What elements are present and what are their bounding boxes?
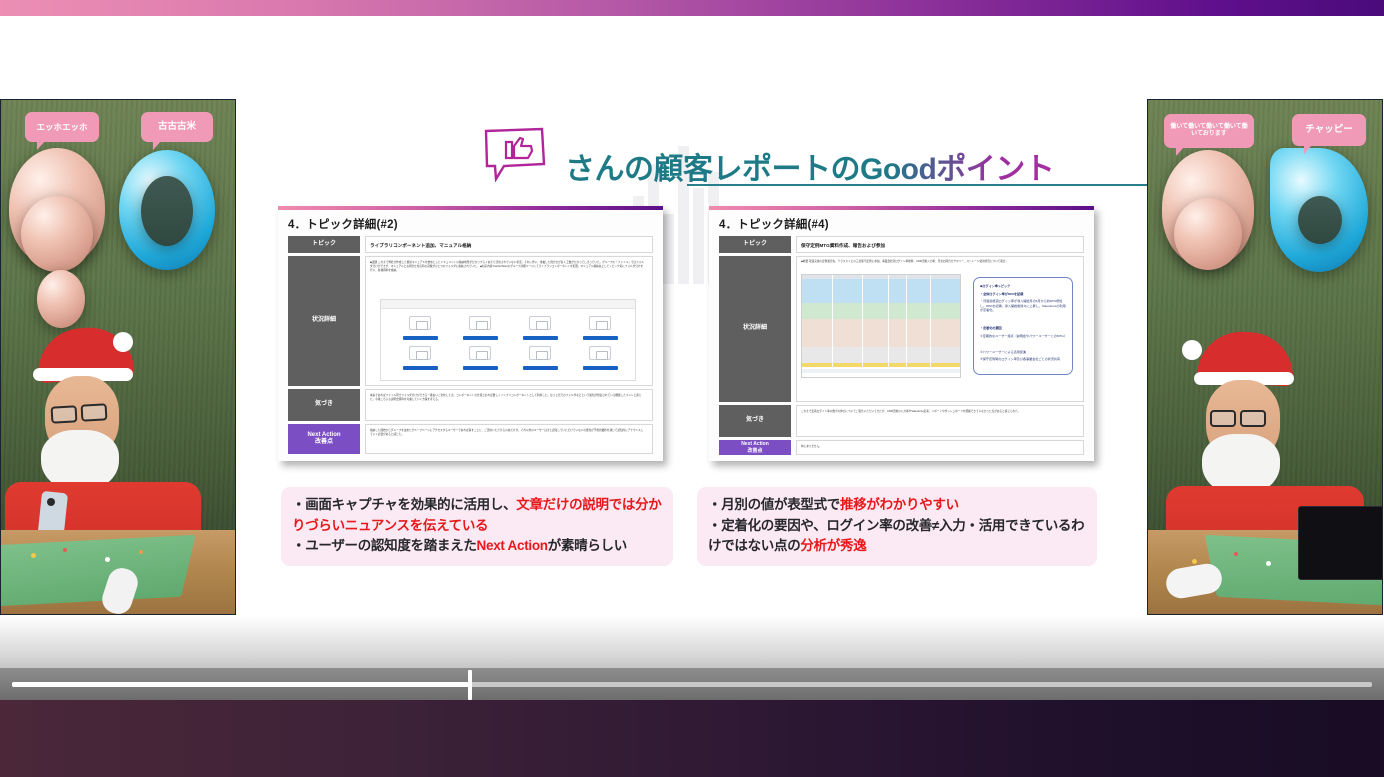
slide-top-ribbon: [0, 0, 1384, 16]
progress-fill: [12, 682, 469, 687]
card-heading: 4．トピック詳細(#4): [719, 216, 829, 232]
screenshot-header: [381, 300, 635, 309]
row-panel: 格納した開始からグループを改めたグループページにアクセスするユーザーであれば探す…: [365, 424, 653, 454]
balloon-digit-5-hole: [1298, 196, 1342, 244]
video-player-app: さんの顧客レポートのGoodポイント 4．トピック詳細(#2) トピック ライブ…: [0, 0, 1384, 777]
row-panel: ライブラリコンポーネント追加、マニュアル格納: [365, 236, 653, 253]
callout-seg: ・ユーザーの認知度を踏まえた: [292, 538, 477, 553]
row-panel: 本来であればファイル同士フォルダ分けができる一番古いご文化した点、コンポーネント…: [365, 389, 653, 421]
good-point-callout-1: ・画面キャプチャを効果的に活用し、文章だけの説明では分かりづらいニュアンスを伝え…: [281, 487, 673, 566]
caption-bubble: 働いて働いて働いて働いて働いております: [1164, 114, 1254, 148]
caption-bubble: 古古古米: [141, 112, 213, 142]
row-value: 格納した開始からグループを改めたグループページにアクセスするユーザーであれば探す…: [370, 429, 645, 437]
row-value: 特にありません。: [801, 445, 1076, 449]
row-tag: 状況詳細: [288, 256, 360, 386]
callout-seg: ・定着化の要因や、ログイン率の改善≠入力・活用できているわけではない点の: [708, 518, 1084, 554]
row-panel: これまで定着ログイン率の数字の伸びについてご報告いただいてきたが、CRM活動の入…: [796, 405, 1084, 437]
row-panel: ◆概要 現週実施の定例運営先、テラスカイとの三社保守定例に参加。事業会社別ログイ…: [796, 256, 1084, 402]
row-tag: Next Action 改善点: [719, 440, 791, 455]
progress-bar-area[interactable]: [0, 668, 1384, 700]
login-rate-note-box: ◆ログイン率トピック ・全体ログイン率が80%を記録 ・月間最終週ログイン率が導…: [973, 277, 1073, 375]
row-tag: 気づき: [288, 389, 360, 421]
callout-seg: ・月別の値が表型式で: [708, 497, 840, 512]
good-point-callout-2: ・月別の値が表型式で推移がわかりやすい ・定着化の要因や、ログイン率の改善≠入力…: [697, 487, 1097, 566]
progress-track[interactable]: [12, 682, 1372, 687]
progress-handle[interactable]: [468, 670, 472, 700]
video-stage[interactable]: さんの顧客レポートのGoodポイント 4．トピック詳細(#2) トピック ライブ…: [0, 0, 1384, 700]
embedded-data-table: [801, 274, 961, 378]
row-panel: 保守定例MTG資料作成、報告および参加: [796, 236, 1084, 253]
note-line: ・定着化の要因: [980, 326, 1068, 331]
balloon-digit-2-lower: [21, 196, 93, 272]
row-value: これまで定着ログイン率の数字の伸びについてご報告いただいてきたが、CRM活動の入…: [801, 410, 1076, 414]
row-panel: ◆課題 これまで弊社が作成した簡易マニュアルを始めとしたドキュメントの格納場所が…: [365, 256, 653, 386]
webcam-panel-right[interactable]: 働いて働いて働いて働いて働いております チャッピー: [1147, 99, 1383, 615]
slide-thumbnail-card-2[interactable]: 4．トピック詳細(#4) トピック 保守定例MTG資料作成、報告および参加 状況…: [709, 206, 1094, 461]
player-control-bar: 10 10 3:17 / 9:47: [0, 700, 1384, 777]
card-heading: 4．トピック詳細(#2): [288, 216, 398, 232]
callout-seg: ・画面キャプチャを効果的に活用し、: [292, 497, 516, 512]
balloon-digit-2-lower: [1174, 198, 1242, 270]
note-line: ・全体ログイン率が80%を記録: [980, 292, 1068, 297]
row-tag: Next Action 改善点: [288, 424, 360, 454]
title-underline: [687, 184, 1183, 186]
note-line: ②パワーユーザーによる活用促進: [980, 350, 1068, 355]
caption-bubble: チャッピー: [1292, 114, 1366, 146]
balloon-accent: [37, 270, 85, 328]
callout-seg-highlight: 推移がわかりやすい: [840, 497, 959, 512]
row-value: ◆概要 現週実施の定例運営先、テラスカイとの三社保守定例に参加。事業会社別ログイ…: [801, 260, 1077, 264]
note-line: ③保守定例時のログイン率及び各事業会社ごとの状況共有: [980, 357, 1068, 362]
row-value: 本来であればファイル同士フォルダ分けができる一番古いご文化した点、コンポーネント…: [370, 394, 645, 402]
card-accent-bar: [278, 206, 663, 210]
callout-seg-highlight: 分析が秀逸: [800, 538, 866, 553]
desk-mat: [0, 535, 196, 607]
row-tag: 気づき: [719, 405, 791, 437]
laptop: [1298, 506, 1383, 580]
embedded-screenshot: [380, 299, 636, 381]
slide-thumbnail-card-1[interactable]: 4．トピック詳細(#2) トピック ライブラリコンポーネント追加、マニュアル格納…: [278, 206, 663, 461]
row-value: 保守定例MTG資料作成、報告および参加: [801, 242, 885, 249]
webcam-panel-left[interactable]: エッホエッホ 古古古米: [0, 99, 236, 615]
card-accent-bar: [709, 206, 1094, 210]
note-line: ①定期的なユーザー接点（説明会やパワーユーザーとのMTG）: [980, 334, 1068, 339]
thumbs-up-speech-bubble-icon: [482, 126, 548, 182]
row-tag: 状況詳細: [719, 256, 791, 402]
row-panel: 特にありません。: [796, 440, 1084, 455]
row-tag: トピック: [288, 236, 360, 253]
note-line: ・月間最終週ログイン率が導入開始月の6月から約40%増加し、80%を記録。導入開…: [980, 299, 1068, 313]
caption-bubble: エッホエッホ: [25, 112, 99, 142]
row-tag: トピック: [719, 236, 791, 253]
note-title: ◆ログイン率トピック: [980, 284, 1010, 289]
callout-text-1: ・画面キャプチャを効果的に活用し、文章だけの説明では分かりづらいニュアンスを伝え…: [292, 495, 662, 557]
row-value: ◆課題 これまで弊社が作成した簡易マニュアルを始めとしたドキュメントの格納場所が…: [370, 261, 645, 273]
row-value: ライブラリコンポーネント追加、マニュアル格納: [370, 242, 471, 249]
balloon-digit-0-hole: [141, 176, 193, 246]
callout-seg: が素晴らしい: [548, 538, 627, 553]
callout-seg-highlight: Next Action: [477, 538, 548, 553]
callout-text-2: ・月別の値が表型式で推移がわかりやすい ・定着化の要因や、ログイン率の改善≠入力…: [708, 495, 1086, 557]
